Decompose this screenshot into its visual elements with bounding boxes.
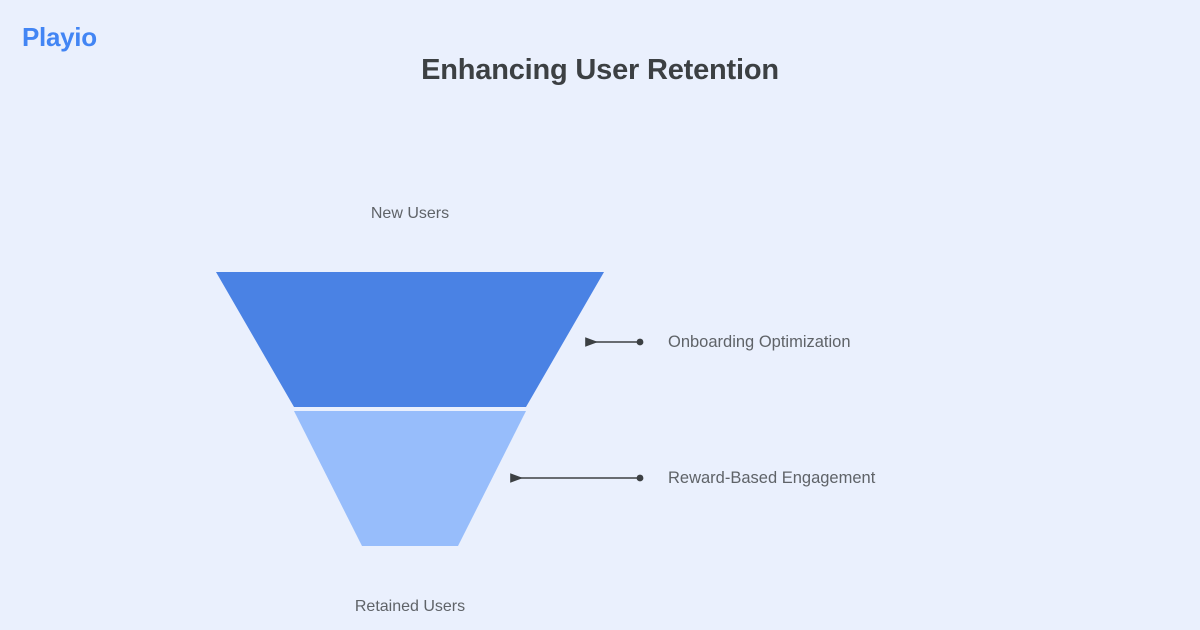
- annotation-label-reward: Reward-Based Engagement: [668, 469, 875, 489]
- funnel-chart: New Users Retained Users Onboarding Opti…: [0, 0, 1200, 630]
- funnel-caption-bottom: Retained Users: [210, 597, 610, 616]
- funnel-segment-new-users[interactable]: [216, 272, 604, 407]
- funnel-caption-top: New Users: [210, 204, 610, 223]
- funnel-svg: [0, 0, 1200, 630]
- slide-canvas: Playio Enhancing User Retention: [0, 0, 1200, 630]
- funnel-segment-retained-users[interactable]: [294, 411, 526, 546]
- annotation-arrow-onboarding: [586, 339, 643, 346]
- annotation-arrow-reward: [511, 475, 643, 482]
- annotation-label-onboarding: Onboarding Optimization: [668, 333, 851, 353]
